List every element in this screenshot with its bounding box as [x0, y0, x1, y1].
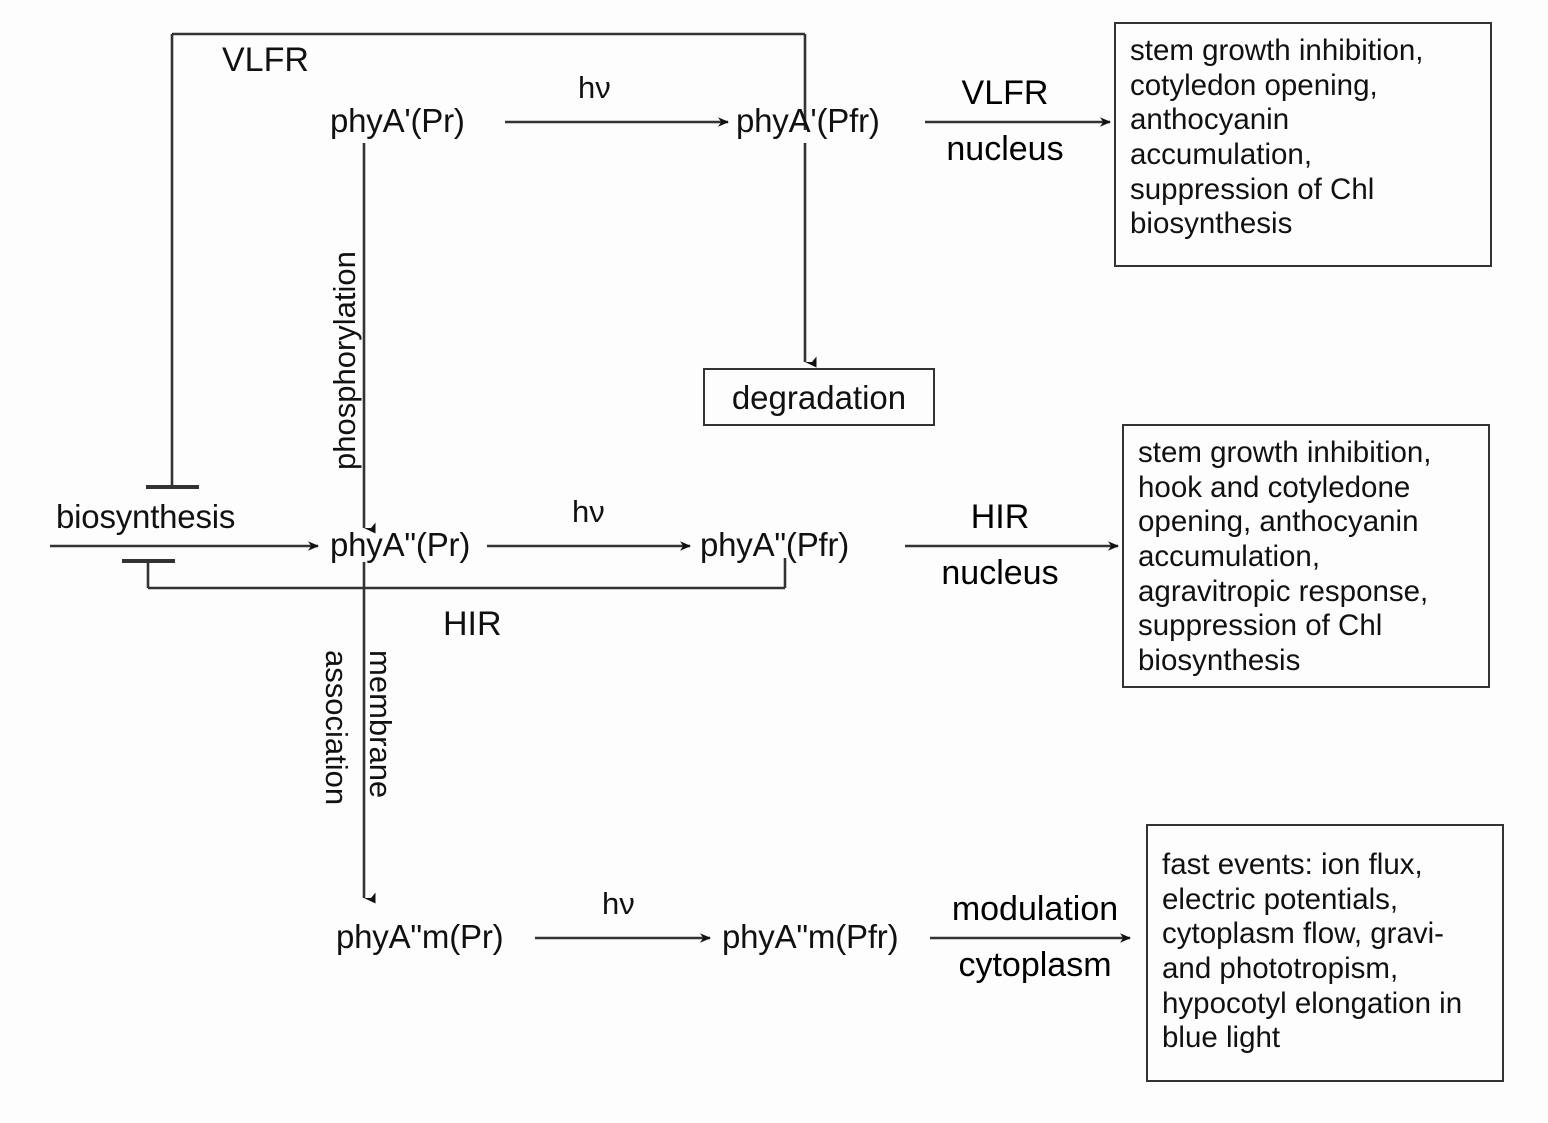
outcome-line: biosynthesis [1130, 207, 1478, 242]
outcome-line: suppression of Chl [1138, 609, 1476, 644]
diagram-canvas: phyA'(Pr) phyA'(Pfr) biosynthesis phyA"(… [0, 0, 1548, 1123]
label-hv-top: hν [578, 72, 611, 103]
node-phya-dprime-pr[interactable]: phyA"(Pr) [330, 528, 470, 561]
outcome-line: cytoplasm flow, gravi- [1162, 917, 1490, 952]
node-biosynthesis[interactable]: biosynthesis [56, 500, 235, 533]
outcome-box-vlfr[interactable]: stem growth inhibition, cotyledon openin… [1114, 22, 1492, 267]
label-hir-nucleus: HIR nucleus [930, 500, 1070, 590]
outcome-line: electric potentials, [1162, 883, 1490, 918]
label-hv-bottom: hν [602, 888, 635, 919]
outcome-line: accumulation, [1130, 138, 1478, 173]
outcome-line: stem growth inhibition, [1138, 436, 1476, 471]
label-modulation-mode: modulation [930, 892, 1140, 926]
label-vlfr-loop: VLFR [222, 43, 309, 77]
node-phya-prime-pr[interactable]: phyA'(Pr) [330, 104, 465, 137]
outcome-line: hook and cotyledone [1138, 471, 1476, 506]
outcome-line: accumulation, [1138, 540, 1476, 575]
outcome-line: biosynthesis [1138, 644, 1476, 679]
label-modulation-cytoplasm: modulation cytoplasm [930, 892, 1140, 982]
label-phosphorylation: phosphorylation [329, 251, 360, 470]
outcome-line: stem growth inhibition, [1130, 34, 1478, 69]
outcome-line: and phototropism, [1162, 952, 1490, 987]
node-phya-dprime-m-pr[interactable]: phyA"m(Pr) [336, 920, 503, 953]
label-hv-middle: hν [572, 496, 605, 527]
outcome-line: opening, anthocyanin [1138, 505, 1476, 540]
node-phya-dprime-pfr[interactable]: phyA"(Pfr) [700, 528, 849, 561]
outcome-line: suppression of Chl [1130, 173, 1478, 208]
label-vlfr-nucleus: VLFR nucleus [935, 76, 1075, 166]
outcome-line: cotyledon opening, [1130, 69, 1478, 104]
outcome-line: anthocyanin [1130, 103, 1478, 138]
label-membrane: membrane [365, 650, 396, 798]
outcome-box-hir[interactable]: stem growth inhibition, hook and cotyled… [1122, 424, 1490, 688]
label-vlfr-mode: VLFR [935, 76, 1075, 110]
outcome-line: agravitropic response, [1138, 575, 1476, 610]
node-phya-dprime-m-pfr[interactable]: phyA"m(Pfr) [722, 920, 898, 953]
label-modulation-compartment: cytoplasm [930, 948, 1140, 982]
label-hir-loop: HIR [443, 607, 502, 641]
label-vlfr-compartment: nucleus [935, 132, 1075, 166]
outcome-box-cytoplasm[interactable]: fast events: ion flux, electric potentia… [1146, 824, 1504, 1082]
outcome-line: fast events: ion flux, [1162, 848, 1490, 883]
label-hir-compartment: nucleus [930, 556, 1070, 590]
node-phya-prime-pfr[interactable]: phyA'(Pfr) [736, 104, 880, 137]
degradation-label: degradation [732, 381, 906, 414]
degradation-box[interactable]: degradation [703, 368, 935, 426]
outcome-line: hypocotyl elongation in [1162, 987, 1490, 1022]
outcome-line: blue light [1162, 1021, 1490, 1056]
label-hir-mode: HIR [930, 500, 1070, 534]
label-association: association [321, 650, 352, 805]
